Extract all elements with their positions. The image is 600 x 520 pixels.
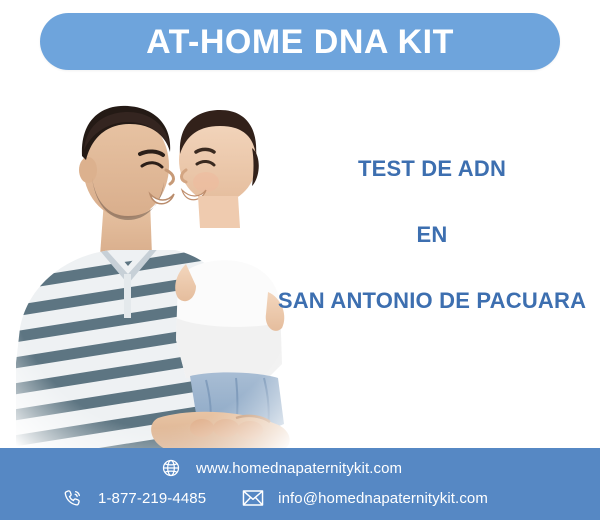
footer-contact-row: 1-877-219-4485 info@homednapaternitykit.… [62,487,488,509]
phone-icon [62,487,84,509]
header-banner: AT-HOME DNA KIT [40,13,560,70]
footer-bar: www.homednapaternitykit.com 1-877-219-44… [0,448,600,520]
email-text: info@homednapaternitykit.com [278,490,488,507]
phone-text: 1-877-219-4485 [98,490,206,507]
footer-website-row: www.homednapaternitykit.com [160,457,402,479]
email-item[interactable]: info@homednapaternitykit.com [242,487,488,509]
headline-line-2: EN [252,224,600,246]
website-text: www.homednapaternitykit.com [196,460,402,477]
website-item[interactable]: www.homednapaternitykit.com [160,457,402,479]
headline-line-1: TEST DE ADN [252,158,600,180]
banner-title: AT-HOME DNA KIT [146,25,454,59]
promo-graphic: AT-HOME DNA KIT [0,0,600,520]
phone-item[interactable]: 1-877-219-4485 [62,487,206,509]
headline-line-3: SAN ANTONIO DE PACUARA [252,290,600,312]
envelope-icon [242,487,264,509]
globe-icon [160,457,182,479]
headline-block: TEST DE ADN EN SAN ANTONIO DE PACUARA [252,158,600,312]
